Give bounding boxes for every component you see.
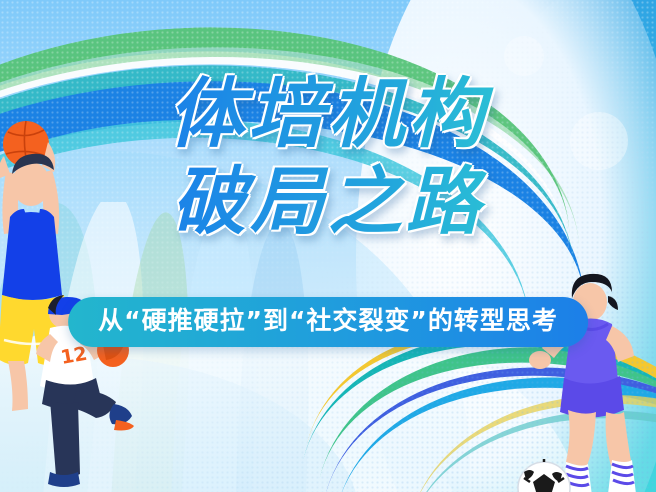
title-line-1: 体培机构 xyxy=(0,72,656,156)
subtitle-text: 从“硬推硬拉”到“社交裂变”的转型思考 xyxy=(98,306,558,335)
poster-canvas: 12 体培机构 xyxy=(0,0,656,492)
subtitle-pill: 从“硬推硬拉”到“社交裂变”的转型思考 xyxy=(68,297,588,347)
title-line-2: 破局之路 xyxy=(0,160,656,244)
poster-title: 体培机构 破局之路 xyxy=(0,72,656,244)
decorative-circle-right-small xyxy=(504,36,544,76)
